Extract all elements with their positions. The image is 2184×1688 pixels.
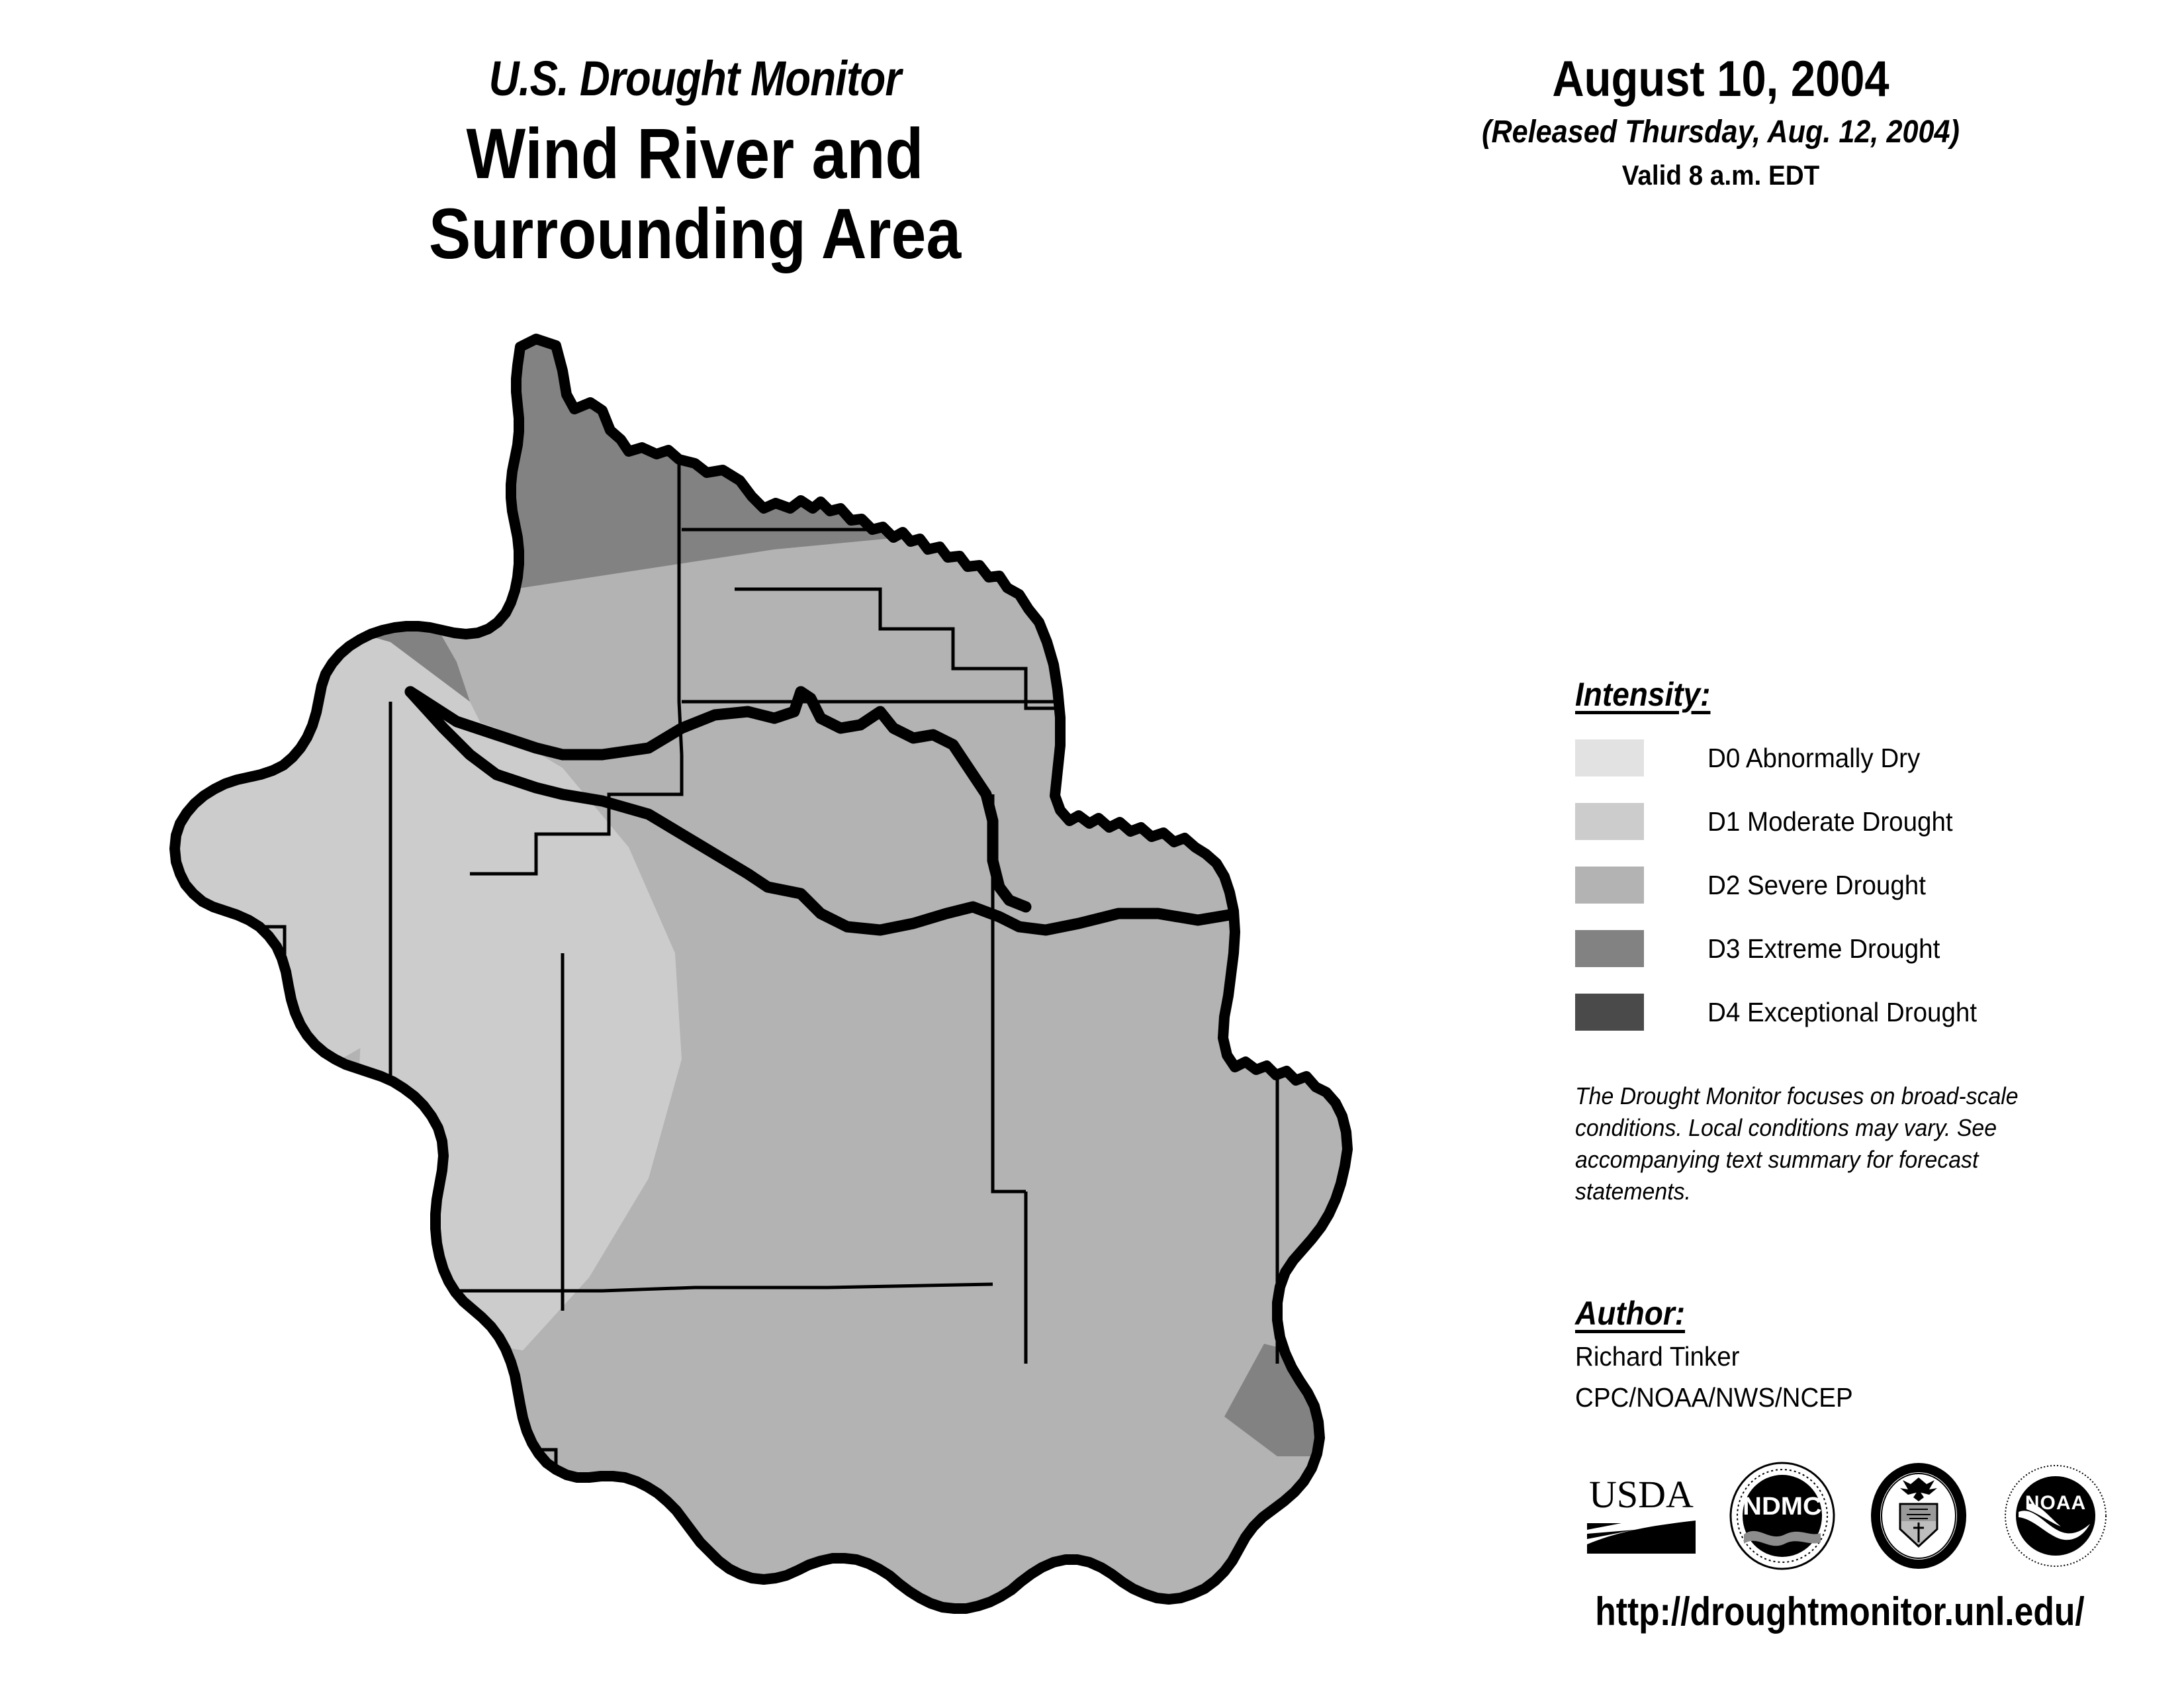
author-block: Author: Richard Tinker CPC/NOAA/NWS/NCEP	[1575, 1294, 2105, 1415]
legend-swatch-d0	[1575, 739, 1644, 776]
map-svg	[99, 331, 1456, 1655]
legend-item-d3: D3 Extreme Drought	[1575, 924, 2118, 973]
author-name: Richard Tinker	[1575, 1339, 2073, 1374]
region-title-line1: Wind River and	[258, 114, 1132, 194]
legend-swatch-d1	[1575, 803, 1644, 840]
noaa-logo: NOAA	[2000, 1460, 2111, 1571]
legend-label-d4: D4 Exceptional Drought	[1707, 997, 1977, 1028]
legend-swatch-d2	[1575, 867, 1644, 904]
usda-logo: USDA	[1582, 1466, 1701, 1566]
valid-time: Valid 8 a.m. EDT	[1435, 160, 2007, 191]
drought-map[interactable]	[99, 331, 1456, 1655]
date-block: August 10, 2004 (Released Thursday, Aug.…	[1410, 53, 2032, 191]
legend-label-d2: D2 Severe Drought	[1707, 870, 1926, 901]
region-title-line2: Surrounding Area	[258, 194, 1132, 274]
website-url[interactable]: http://droughtmonitor.unl.edu/	[1584, 1589, 2096, 1634]
legend-label-d3: D3 Extreme Drought	[1707, 933, 1940, 964]
legend: Intensity: D0 Abnormally Dry D1 Moderate…	[1575, 675, 2118, 1051]
legend-item-d4: D4 Exceptional Drought	[1575, 988, 2118, 1037]
logo-row: USDA NDMC NOAA	[1582, 1453, 2111, 1579]
legend-label-d0: D0 Abnormally Dry	[1707, 743, 1920, 774]
usda-wordmark: USDA	[1589, 1473, 1694, 1516]
valid-date: August 10, 2004	[1447, 53, 1994, 106]
ndmc-logo: NDMC	[1727, 1460, 1838, 1571]
author-heading: Author:	[1575, 1294, 2062, 1333]
legend-swatch-d4	[1575, 994, 1644, 1031]
disclaimer-text: The Drought Monitor focuses on broad-sca…	[1575, 1080, 2048, 1207]
author-affiliation: CPC/NOAA/NWS/NCEP	[1575, 1380, 2073, 1415]
page-title: Wind River and Surrounding Area	[258, 114, 1132, 274]
title-block: U.S. Drought Monitor Wind River and Surr…	[199, 53, 1191, 274]
legend-item-d2: D2 Severe Drought	[1575, 861, 2118, 910]
legend-heading: Intensity:	[1575, 675, 2074, 714]
commerce-logo	[1863, 1460, 1974, 1571]
program-label: U.S. Drought Monitor	[268, 53, 1122, 105]
legend-label-d1: D1 Moderate Drought	[1707, 806, 1953, 837]
legend-item-d1: D1 Moderate Drought	[1575, 797, 2118, 846]
legend-swatch-d3	[1575, 930, 1644, 967]
release-date: (Released Thursday, Aug. 12, 2004)	[1441, 114, 2001, 150]
legend-item-d0: D0 Abnormally Dry	[1575, 733, 2118, 782]
ndmc-wordmark: NDMC	[1743, 1493, 1822, 1521]
